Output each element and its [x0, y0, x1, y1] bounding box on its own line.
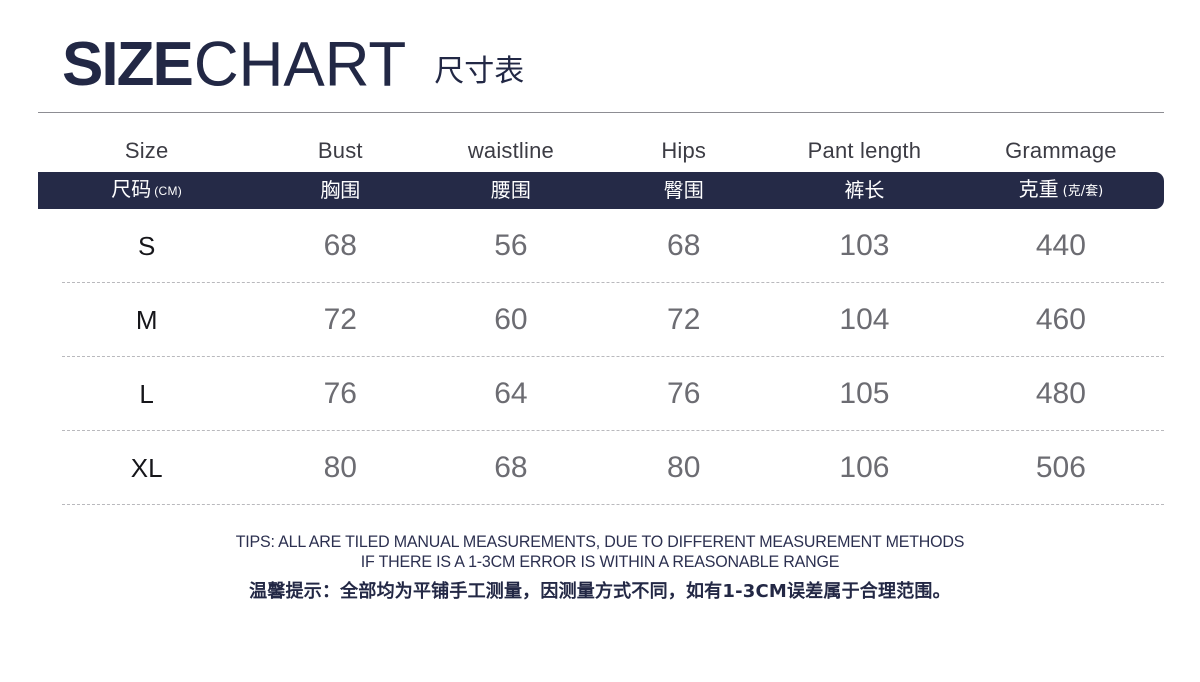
header-cn-grammage-label: 克重 [1019, 177, 1059, 201]
header-cn-grammage-unit: (克/套) [1063, 184, 1104, 199]
cell-bust: 76 [255, 357, 425, 431]
table-row: L 76 64 76 105 480 [38, 357, 1164, 431]
table-header-chinese-band: 尺码(CM) 胸围 腰围 臀围 裤长 克重(克/套) [38, 172, 1164, 209]
header-en-hips: Hips [596, 130, 771, 172]
title-light-word: CHART [194, 33, 406, 96]
cell-size: L [38, 357, 255, 431]
cell-grammage: 440 [958, 209, 1164, 283]
header-cn-pant-length: 裤长 [771, 172, 958, 209]
header-cn-hips: 臀围 [596, 172, 771, 209]
header-cn-waistline: 腰围 [425, 172, 596, 209]
cell-hips: 68 [596, 209, 771, 283]
cell-pant-length: 103 [771, 209, 958, 283]
cell-size: M [38, 283, 255, 357]
size-table: Size Bust waistline Hips Pant length Gra… [38, 130, 1164, 505]
cell-grammage: 460 [958, 283, 1164, 357]
page-title: SIZE CHART 尺寸表 [62, 34, 524, 96]
cell-waistline: 56 [425, 209, 596, 283]
cell-waistline: 68 [425, 431, 596, 505]
header-cn-size-unit: (CM) [154, 184, 182, 198]
title-bold-word: SIZE [62, 34, 192, 96]
header-cn-size: 尺码(CM) [38, 171, 255, 211]
table-row: XL 80 68 80 106 506 [38, 431, 1164, 505]
table-header-english: Size Bust waistline Hips Pant length Gra… [38, 130, 1164, 172]
header-en-size: Size [38, 130, 255, 172]
header-en-waistline: waistline [425, 130, 596, 172]
cell-bust: 80 [255, 431, 425, 505]
tips-line-1: TIPS: ALL ARE TILED MANUAL MEASUREMENTS,… [18, 532, 1182, 552]
header-en-pant-length: Pant length [771, 130, 958, 172]
cell-hips: 80 [596, 431, 771, 505]
cell-waistline: 64 [425, 357, 596, 431]
measurement-tips: TIPS: ALL ARE TILED MANUAL MEASUREMENTS,… [0, 532, 1200, 607]
cell-pant-length: 104 [771, 283, 958, 357]
header-en-grammage: Grammage [958, 130, 1164, 172]
table-row: S 68 56 68 103 440 [38, 209, 1164, 283]
cell-hips: 76 [596, 357, 771, 431]
cell-hips: 72 [596, 283, 771, 357]
cell-size: S [38, 209, 255, 283]
header-cn-grammage: 克重(克/套) [958, 171, 1164, 211]
tips-line-2: IF THERE IS A 1-3CM ERROR IS WITHIN A RE… [18, 552, 1182, 572]
cell-size: XL [38, 431, 255, 505]
table-row: M 72 60 72 104 460 [38, 283, 1164, 357]
row-separator [62, 504, 1164, 505]
size-chart-page: SIZE CHART 尺寸表 Size Bust waistline Hips … [0, 0, 1200, 682]
cell-waistline: 60 [425, 283, 596, 357]
cell-grammage: 506 [958, 431, 1164, 505]
cell-pant-length: 105 [771, 357, 958, 431]
header-cn-bust: 胸围 [255, 172, 425, 209]
cell-bust: 68 [255, 209, 425, 283]
title-chinese: 尺寸表 [434, 57, 524, 87]
title-divider [38, 112, 1164, 113]
cell-pant-length: 106 [771, 431, 958, 505]
cell-grammage: 480 [958, 357, 1164, 431]
tips-line-cn: 温馨提示：全部均为平铺手工测量，因测量方式不同，如有1-3CM误差属于合理范围。 [0, 577, 1200, 607]
header-cn-size-label: 尺码 [111, 177, 151, 201]
cell-bust: 72 [255, 283, 425, 357]
header-en-bust: Bust [255, 130, 425, 172]
